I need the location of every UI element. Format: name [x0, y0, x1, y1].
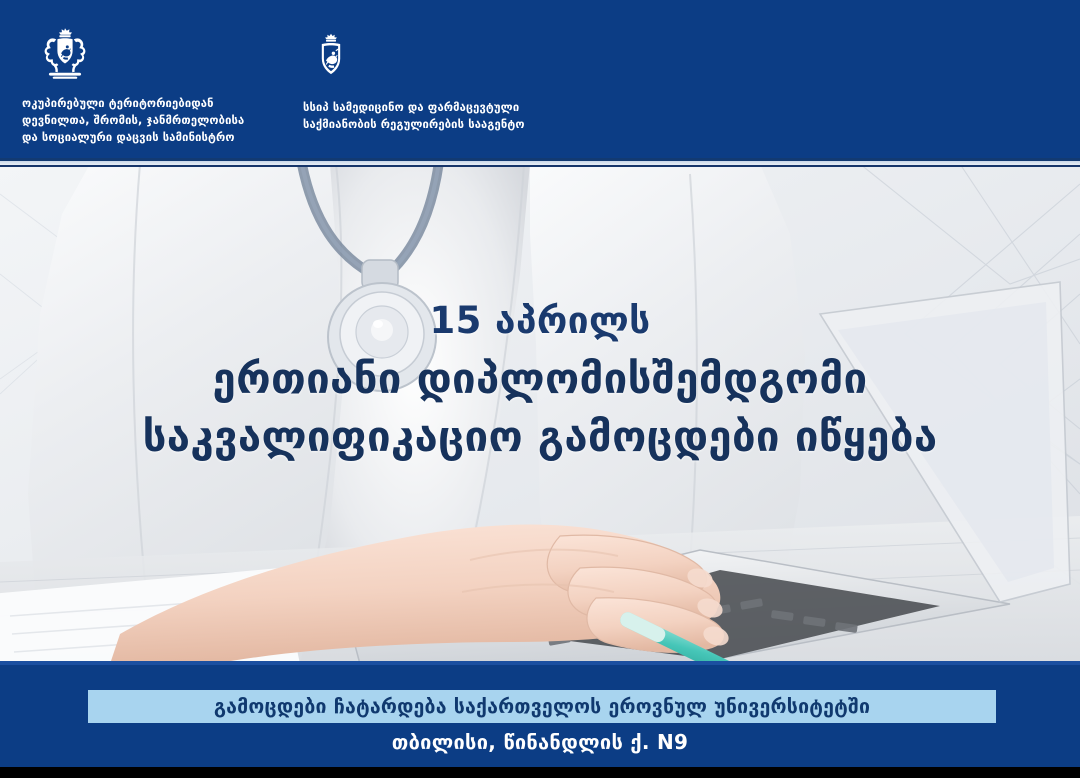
divider-dark-bottom	[0, 165, 1080, 167]
footer-venue-text: გამოცდები ჩატარდება საქართველოს ეროვნულ …	[214, 695, 870, 718]
georgia-coat-of-arms-emblem	[34, 26, 96, 88]
saint-george-shield-emblem	[311, 32, 351, 88]
organization-ministry-name: ოკუპირებული ტერიტორიებიდან დევნილთა, შრო…	[22, 95, 244, 146]
header-band: ოკუპირებული ტერიტორიებიდან დევნილთა, შრო…	[0, 0, 1080, 158]
bottom-black-bar	[0, 767, 1080, 778]
organization-agency-name: სსიპ სამედიცინო და ფარმაცევტული საქმიანო…	[303, 99, 525, 133]
footer-hairline	[0, 661, 1080, 665]
footer-address-text: თბილისი, წინანდლის ქ. N9	[0, 730, 1080, 754]
footer-venue-highlight: გამოცდები ჩატარდება საქართველოს ეროვნულ …	[88, 690, 996, 723]
announcement-poster: ოკუპირებული ტერიტორიებიდან დევნილთა, შრო…	[0, 0, 1080, 778]
doctor-typing-on-laptop-photo	[0, 164, 1080, 664]
header-divider	[0, 158, 1080, 168]
organization-ministry: ოკუპირებული ტერიტორიებიდან დევნილთა, შრო…	[22, 26, 244, 146]
organization-agency: სსიპ სამედიცინო და ფარმაცევტული საქმიანო…	[303, 32, 525, 133]
